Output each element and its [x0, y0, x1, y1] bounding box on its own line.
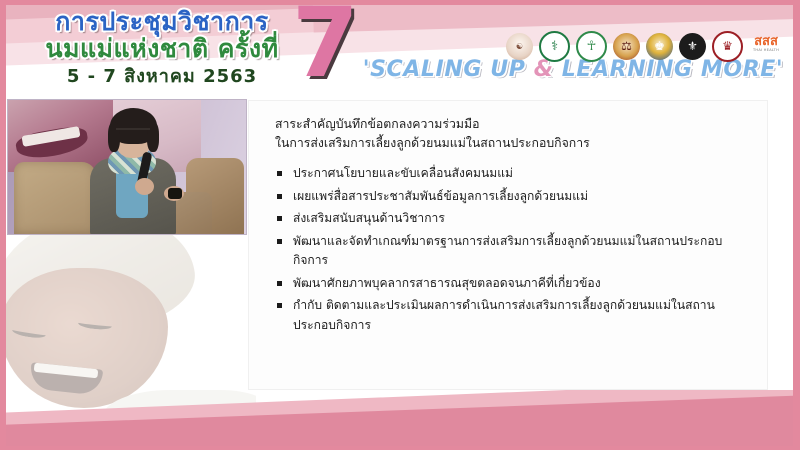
content-lead: สาระสำคัญบันทึกข้อตกลงความร่วมมือ ในการส…: [275, 115, 751, 153]
list-item: ส่งเสริมสนับสนุนด้านวิชาการ: [277, 209, 751, 229]
agreement-points-list: ประกาศนโยบายและขับเคลื่อนสังคมนมแม่ เผยแ…: [265, 164, 751, 335]
content-lead-line2: ในการส่งเสริมการเลี้ยงลูกด้วยนมแม่ในสถาน…: [275, 134, 751, 153]
edition-number: 7: [292, 5, 359, 91]
smiling-child-background-photo: [6, 220, 256, 430]
royal-emblem-logo: ☯: [506, 33, 533, 60]
speaker-hand-left: [135, 178, 154, 195]
slide-header: การประชุมวิชาการ นมแม่แห่งชาติ ครั้งที่ …: [6, 5, 793, 95]
frame-border-right: [793, 0, 800, 450]
thai-crown-emblem-logo: ⚖: [613, 33, 640, 60]
thaihealth-sss-logo: สสส THAI HEALTH: [749, 33, 783, 60]
list-item: พัฒนาศักยภาพบุคลากรสาธารณสุขตลอดจนภาคีที…: [277, 274, 751, 294]
content-lead-line1: สาระสำคัญบันทึกข้อตกลงความร่วมมือ: [275, 115, 751, 134]
slide-content-panel: สาระสำคัญบันทึกข้อตกลงความร่วมมือ ในการส…: [248, 100, 768, 390]
sss-mark: สสส: [754, 37, 778, 46]
university-seal-logo: ⚜: [679, 33, 706, 60]
conference-title-line1: การประชุมวิชาการ: [22, 7, 302, 37]
list-item: กำกับ ติดตามและประเมินผลการดำเนินการส่งเ…: [277, 296, 751, 335]
conference-date: 5 - 7 สิงหาคม 2563: [22, 66, 302, 88]
presentation-slide: การประชุมวิชาการ นมแม่แห่งชาติ ครั้งที่ …: [0, 0, 800, 450]
list-item: เผยแพร่สื่อสารประชาสัมพันธ์ข้อมูลการเลี้…: [277, 187, 751, 207]
armchair-left: [14, 162, 96, 234]
frame-border-bottom: [0, 446, 800, 450]
child-shirt: [102, 390, 256, 430]
royal-college-logo: ♛: [712, 31, 743, 62]
conference-title-block: การประชุมวิชาการ นมแม่แห่งชาติ ครั้งที่ …: [22, 7, 302, 88]
speaker-glasses: [116, 128, 150, 138]
sss-subtitle: THAI HEALTH: [753, 46, 779, 55]
speaker-video-thumbnail[interactable]: [8, 100, 246, 234]
presentation-clicker: [168, 188, 182, 199]
partner-logo-strip: ☯ ⚕ ☥ ⚖ ♚ ⚜ ♛ สสส THAI HEALTH: [506, 31, 783, 61]
ministry-public-health-logo: ⚕: [539, 31, 570, 62]
list-item: ประกาศนโยบายและขับเคลื่อนสังคมนมแม่: [277, 164, 751, 184]
conference-title-line2: นมแม่แห่งชาติ ครั้งที่: [22, 34, 302, 64]
national-emblem-logo: ♚: [646, 33, 673, 60]
department-health-logo: ☥: [576, 31, 607, 62]
list-item: พัฒนาและจัดทำเกณฑ์มาตรฐานการส่งเสริมการเ…: [277, 232, 751, 271]
